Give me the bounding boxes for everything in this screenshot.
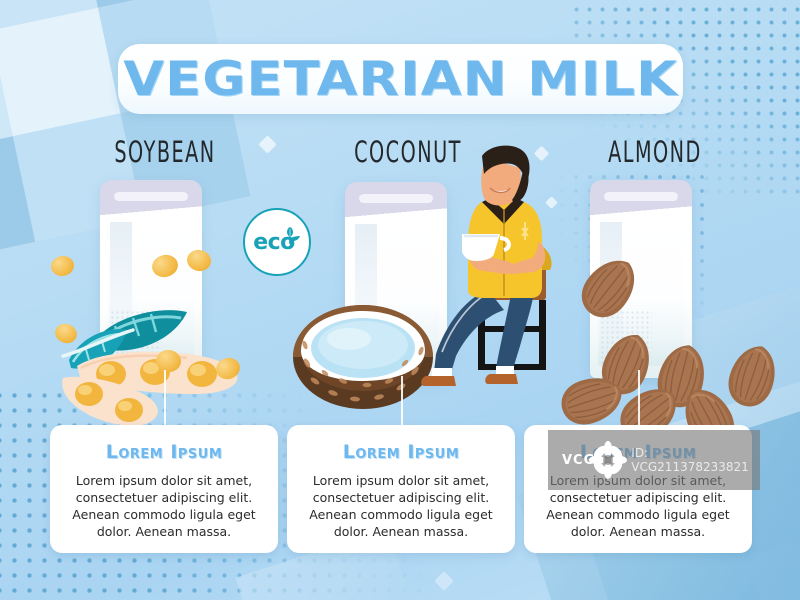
watermark-overlay: VCG ID: VCG211378233821 (548, 430, 760, 490)
info-card-coconut[interactable]: Lorem Ipsum Lorem ipsum dolor sit amet, … (287, 425, 515, 553)
watermark-star-icon (588, 440, 628, 480)
section-heading-soybean: SOYBEAN (73, 136, 258, 170)
character-man-drinking-milk (420, 140, 580, 400)
carton-zip-seal (114, 192, 188, 201)
connector-line-soybean (164, 370, 166, 428)
eco-badge[interactable]: eco (243, 208, 313, 288)
carton-zip-seal (604, 192, 678, 201)
diamond-accent (434, 571, 454, 591)
connector-line-almond (638, 370, 640, 428)
card-title: Lorem Ipsum (301, 441, 501, 463)
almond-nut-icon (572, 249, 646, 326)
connector-line-coconut (401, 376, 403, 428)
page-title: VEGETARIAN MILK (123, 52, 678, 107)
card-body: Lorem ipsum dolor sit amet, consectetuer… (64, 473, 264, 541)
poster-canvas: VEGETARIAN MILK SOYBEAN COCONUT ALMOND (0, 0, 800, 600)
character-head (481, 146, 529, 206)
leaf-icon (279, 224, 301, 246)
section-heading-almond: ALMOND (563, 136, 748, 170)
card-title: Lorem Ipsum (64, 441, 264, 463)
almond-nut-icon (722, 340, 783, 413)
title-plate: VEGETARIAN MILK (118, 44, 683, 114)
diamond-accent (258, 135, 276, 153)
character-legs (421, 290, 534, 386)
info-card-soybean[interactable]: Lorem Ipsum Lorem ipsum dolor sit amet, … (50, 425, 278, 553)
eco-badge-circle: eco (243, 208, 311, 276)
almond-illustration (555, 215, 785, 435)
card-body: Lorem ipsum dolor sit amet, consectetuer… (301, 473, 501, 541)
watermark-id: ID: VCG211378233821 (631, 446, 760, 474)
